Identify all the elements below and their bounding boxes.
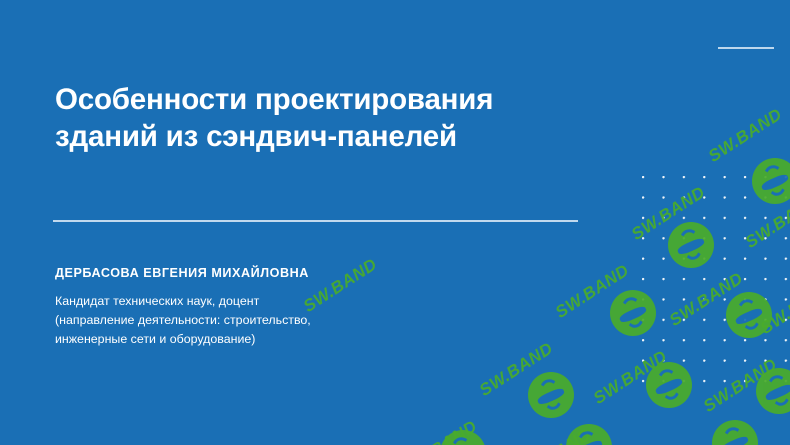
- sw-band-logo-icon: [566, 424, 612, 445]
- author-description: Кандидат технических наук, доцент(направ…: [55, 292, 415, 350]
- dot-grid-pattern: [638, 172, 790, 400]
- watermark-text: SW.BAND: [628, 183, 709, 245]
- watermark-text: SW.BAND: [705, 105, 786, 167]
- author-description-line: инженерные сети и оборудование): [55, 330, 415, 349]
- top-right-rule: [718, 47, 774, 49]
- sw-band-logo-icon: [726, 292, 772, 338]
- watermark-text: SW.BAND: [700, 355, 781, 417]
- sw-band-logo-icon: [646, 362, 692, 408]
- sw-band-logo-icon: [712, 420, 758, 445]
- watermark-text: SW.BAND: [666, 269, 747, 331]
- section-divider: [53, 220, 578, 222]
- author-description-line: Кандидат технических наук, доцент: [55, 292, 415, 311]
- watermark-text: SW.BAND: [757, 277, 790, 339]
- sw-band-logo-icon: [440, 430, 486, 445]
- watermark-text: SW.BAND: [400, 417, 481, 445]
- watermark-text: SW.BAND: [742, 191, 790, 253]
- watermark-text: SW.BAND: [590, 347, 671, 409]
- author-name: ДЕРБАСОВА ЕВГЕНИЯ МИХАЙЛОВНА: [55, 266, 309, 280]
- author-description-line: (направление деятельности: строительство…: [55, 311, 415, 330]
- sw-band-logo-icon: [752, 158, 790, 204]
- watermark-overlay: SW.BANDSW.BANDSW.BANDSW.BANDSW.BANDSW.BA…: [0, 0, 790, 445]
- presentation-slide: Особенности проектирования зданий из сэн…: [0, 0, 790, 445]
- sw-band-logo-icon: [610, 290, 656, 336]
- sw-band-logo-icon: [668, 222, 714, 268]
- watermark-text: SW.BAND: [552, 261, 633, 323]
- watermark-text: SW.BAND: [514, 425, 595, 445]
- page-title: Особенности проектирования зданий из сэн…: [55, 82, 575, 155]
- sw-band-logo-icon: [756, 368, 790, 414]
- sw-band-logo-icon: [528, 372, 574, 418]
- watermark-text: SW.BAND: [476, 339, 557, 401]
